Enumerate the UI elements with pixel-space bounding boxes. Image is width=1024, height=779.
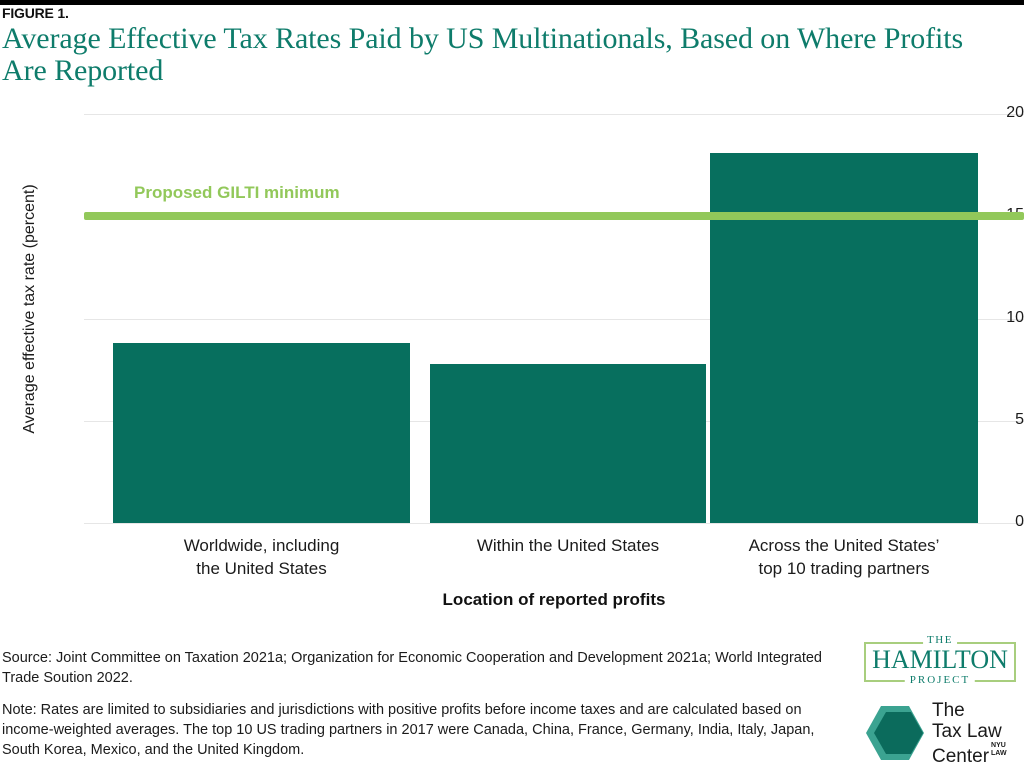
x-axis-title: Location of reported profits — [84, 590, 1024, 610]
tlc-line-3: Center — [932, 746, 989, 767]
methodology-note: Note: Rates are limited to subsidiaries … — [2, 700, 847, 760]
hamilton-logo-name: HAMILTON — [860, 646, 1020, 674]
hamilton-project-logo: THE HAMILTON PROJECT — [860, 634, 1020, 688]
tlc-law: LAW — [991, 750, 1007, 758]
tlc-nyu-law: NYULAW — [991, 742, 1007, 757]
x-axis-category-line: the United States — [83, 557, 440, 580]
bar — [113, 343, 410, 523]
tlc-nyu: NYU — [991, 742, 1007, 750]
hamilton-logo-project: PROJECT — [905, 674, 975, 686]
gilti-threshold-label: Proposed GILTI minimum — [134, 183, 340, 203]
x-axis-category-label: Worldwide, includingthe United States — [83, 534, 440, 580]
x-axis-category-line: top 10 trading partners — [680, 557, 1008, 580]
x-axis-category-line: Worldwide, including — [83, 534, 440, 557]
tlc-line-1: The — [932, 700, 1007, 721]
source-note: Source: Joint Committee on Taxation 2021… — [2, 648, 842, 688]
x-axis-category-line: Across the United States’ — [680, 534, 1008, 557]
hexagon-icon — [864, 704, 926, 762]
tlc-line-3-wrap: CenterNYULAW — [932, 742, 1007, 767]
x-axis-category-label: Across the United States’top 10 trading … — [680, 534, 1008, 580]
tax-law-center-logo: The Tax Law CenterNYULAW — [862, 700, 1024, 770]
tax-law-center-wordmark: The Tax Law CenterNYULAW — [932, 700, 1007, 767]
gilti-threshold-line — [84, 212, 1024, 220]
bars-group — [0, 0, 1024, 523]
tlc-line-2: Tax Law — [932, 721, 1007, 742]
bar — [430, 364, 706, 524]
figure-page: FIGURE 1. Average Effective Tax Rates Pa… — [0, 0, 1024, 779]
bar — [710, 153, 978, 523]
gridline — [84, 523, 1024, 524]
chart-plot-area: 05101520 Average effective tax rate (per… — [0, 0, 1024, 640]
